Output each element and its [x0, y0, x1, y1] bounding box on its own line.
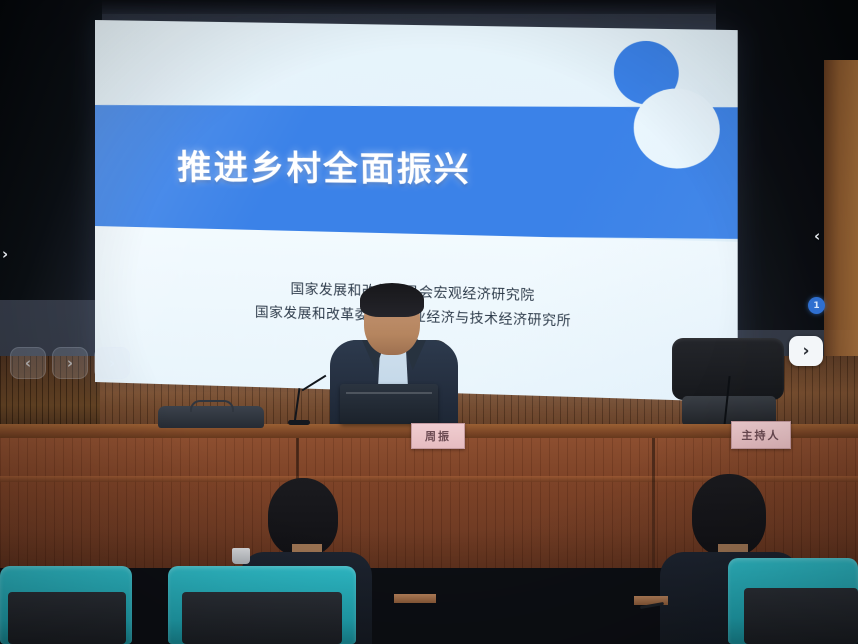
name-placard-speaker: 周振 [411, 423, 465, 449]
wall-right-wood-trim [824, 60, 858, 360]
edge-collapse-left-icon[interactable]: ‹ [814, 227, 820, 245]
forward-button[interactable]: › [94, 347, 130, 379]
speaker-microphone-base [288, 420, 310, 425]
video-frame: 推进乡村全面振兴 国家发展和改革委员会宏观经济研究院 国家发展和改革委员会产业经… [0, 0, 858, 644]
name-placard-host: 主持人 [731, 421, 791, 449]
page-indicator-badge[interactable]: 1 [808, 297, 825, 314]
decorative-circle-white [634, 88, 720, 170]
podium-seam-right [652, 438, 655, 568]
laptop [340, 384, 438, 424]
prev-button[interactable]: ‹ [10, 347, 46, 379]
wall-left-shadow [0, 0, 102, 300]
audience-chair-right-pad [744, 588, 858, 644]
speaker-hair [360, 283, 424, 317]
slide-title: 推进乡村全面振兴 [177, 140, 471, 192]
audience-chair-far-left-pad [8, 592, 126, 644]
audience-desk-ledge-left [394, 594, 436, 603]
audience-chair-left-pad [182, 592, 342, 644]
edge-expand-right-icon[interactable]: › [2, 245, 8, 263]
paper-cup [232, 548, 250, 564]
laptop-lid-edge [346, 392, 432, 394]
laptop-bag-handle [190, 400, 234, 412]
next-button[interactable]: › [52, 347, 88, 379]
next-slide-button[interactable]: › [789, 336, 823, 366]
